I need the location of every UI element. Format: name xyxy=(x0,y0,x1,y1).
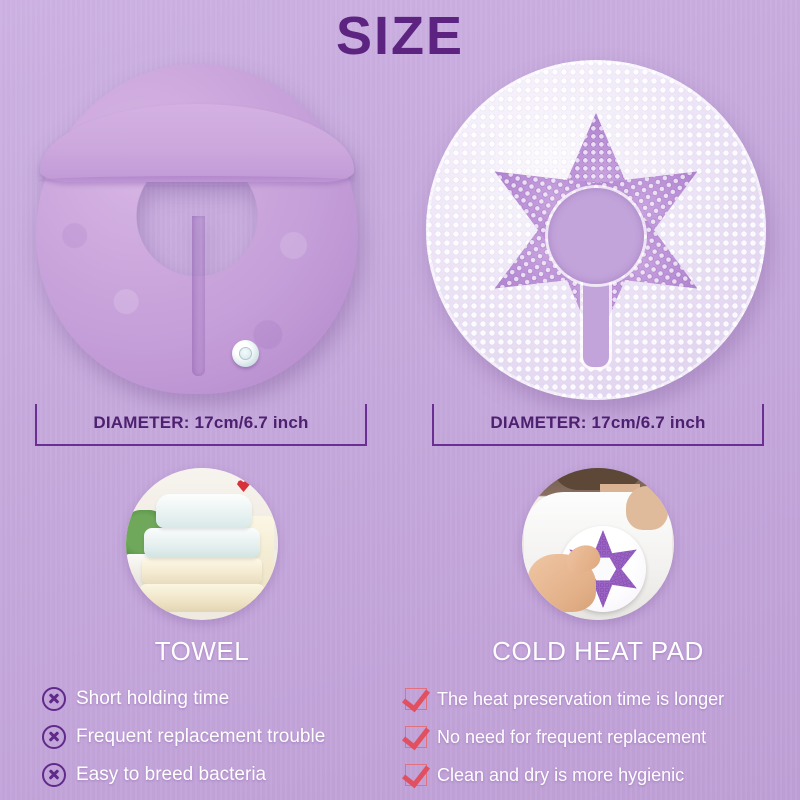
cross-icon xyxy=(42,725,66,749)
product-image-plush-towel-pad xyxy=(18,58,378,403)
comparison-heading-towel: TOWEL xyxy=(12,636,392,667)
feature-list-cold-heat-pad: The heat preservation time is longer No … xyxy=(405,680,800,794)
check-icon xyxy=(405,688,427,710)
measurement-bracket-left: DIAMETER: 17cm/6.7 inch xyxy=(35,404,367,446)
feature-list-towel: Short holding time Frequent replacement … xyxy=(42,680,442,794)
snap-button-icon xyxy=(232,340,259,367)
check-icon xyxy=(405,764,427,786)
product-infographic: SIZE xyxy=(0,0,800,800)
check-icon xyxy=(405,726,427,748)
list-item-label: Easy to breed bacteria xyxy=(76,764,266,786)
cross-icon xyxy=(42,763,66,787)
measurement-bracket-right: DIAMETER: 17cm/6.7 inch xyxy=(432,404,764,446)
plush-pad-flap-edge xyxy=(38,176,356,185)
list-item-label: The heat preservation time is longer xyxy=(437,689,724,710)
list-item: No need for frequent replacement xyxy=(405,718,800,756)
comparison-heading-cold-heat-pad: COLD HEAT PAD xyxy=(408,636,788,667)
page-title: SIZE xyxy=(0,6,800,66)
diameter-label-right: DIAMETER: 17cm/6.7 inch xyxy=(434,413,762,433)
comparison-column-cold-heat-pad: COLD HEAT PAD xyxy=(408,468,788,667)
woman-using-gel-pad-photo xyxy=(522,468,674,620)
list-item-label: No need for frequent replacement xyxy=(437,727,706,748)
diameter-label-left: DIAMETER: 17cm/6.7 inch xyxy=(37,413,365,433)
gel-pad-center-hole xyxy=(548,188,644,284)
plush-pad-keyhole-slit xyxy=(192,216,205,376)
list-item: Clean and dry is more hygienic xyxy=(405,756,800,794)
list-item: Frequent replacement trouble xyxy=(42,718,442,756)
list-item-label: Clean and dry is more hygienic xyxy=(437,765,684,786)
comparison-column-towel: TOWEL xyxy=(12,468,392,667)
list-item: Easy to breed bacteria xyxy=(42,756,442,794)
stacked-towels-photo xyxy=(126,468,278,620)
list-item: Short holding time xyxy=(42,680,442,718)
list-item-label: Frequent replacement trouble xyxy=(76,726,325,748)
list-item-label: Short holding time xyxy=(76,688,229,710)
product-image-gel-bead-pad xyxy=(418,58,778,403)
plush-pad-illustration xyxy=(36,64,358,394)
gel-pad-illustration xyxy=(426,60,766,400)
cross-icon xyxy=(42,687,66,711)
list-item: The heat preservation time is longer xyxy=(405,680,800,718)
